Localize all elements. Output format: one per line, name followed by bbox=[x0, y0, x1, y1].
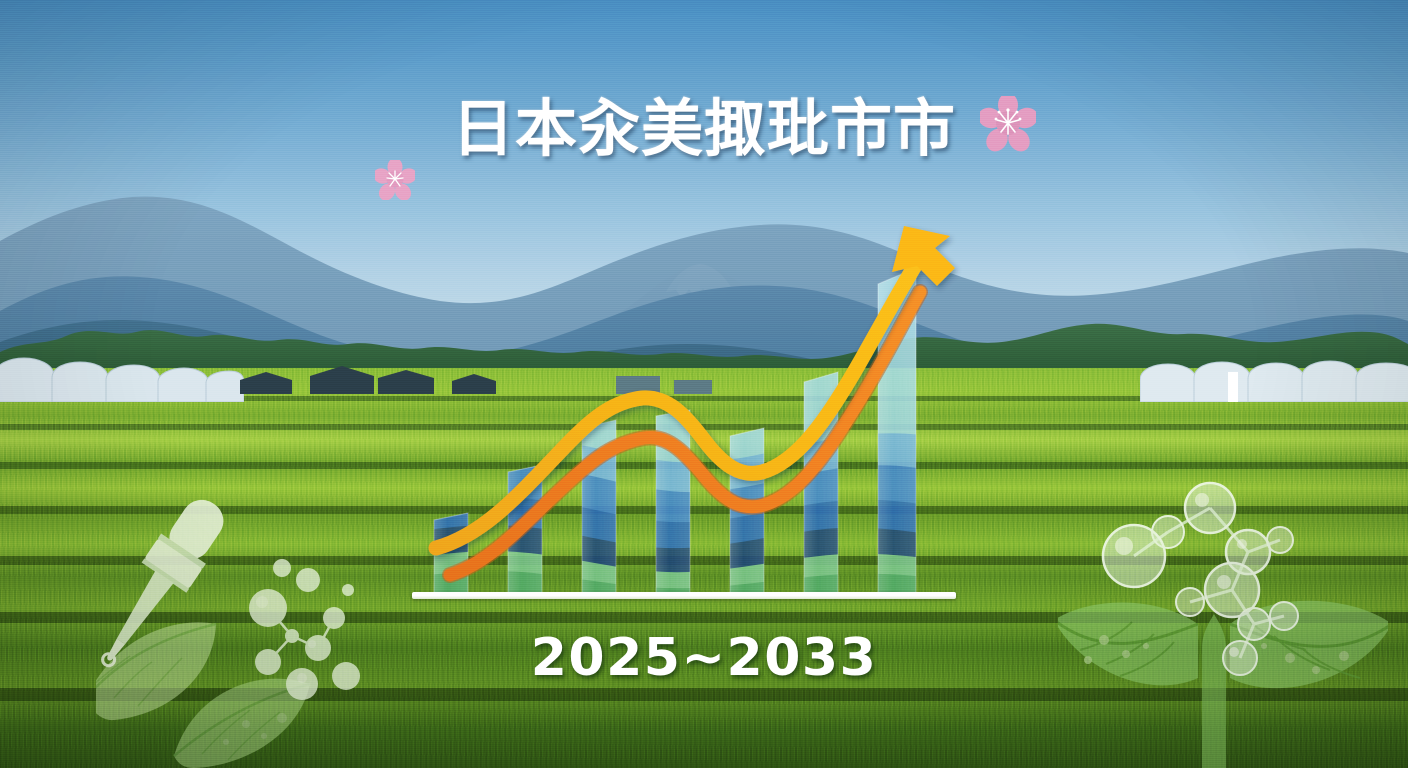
growth-curve-primary-group bbox=[436, 226, 955, 548]
years-container: 2025~2033 bbox=[0, 628, 1408, 688]
year-range-label: 2025~2033 bbox=[531, 628, 878, 688]
chart-baseline bbox=[412, 592, 956, 599]
title-container: 日本汆美掫玭市市 bbox=[0, 98, 1408, 160]
growth-bar-chart bbox=[404, 210, 984, 610]
decor-right-group bbox=[1058, 474, 1388, 768]
page-title: 日本汆美掫玭市市 bbox=[452, 98, 956, 160]
greenhouse-cluster-right bbox=[1140, 352, 1408, 402]
cherry-blossom-icon bbox=[375, 160, 415, 200]
poster-canvas: 日本汆美掫玭市市 2025~2033 bbox=[0, 0, 1408, 768]
